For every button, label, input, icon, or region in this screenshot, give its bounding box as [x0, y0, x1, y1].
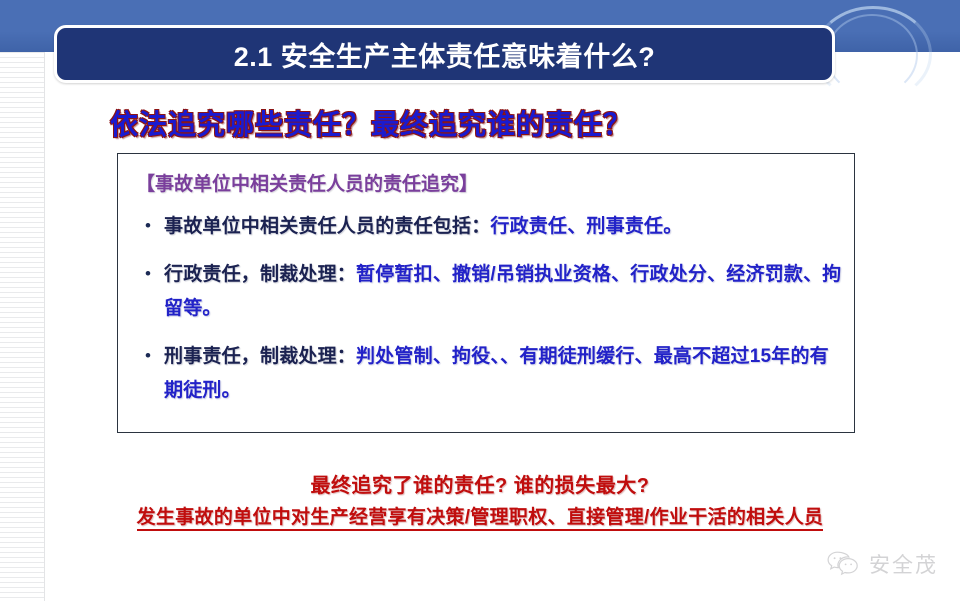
bullet-segment-label: 事故单位中相关责任人员的责任包括：	[164, 216, 490, 237]
bullet-list: •事故单位中相关责任人员的责任包括：行政责任、刑事责任。•行政责任，制裁处理：暂…	[132, 210, 844, 422]
bullet-marker-icon: •	[132, 210, 164, 242]
footer-question-line: 最终追究了谁的责任? 谁的损失最大?	[0, 469, 960, 498]
title-banner: 2.1 安全生产主体责任意味着什么?	[54, 25, 835, 83]
bullet-text: 刑事责任，制裁处理：判处管制、拘役、、有期徒刑缓行、最高不超过15年的有期徒刑。	[164, 340, 844, 408]
subtitle-question: 依法追究哪些责任？最终追究谁的责任？	[110, 103, 810, 143]
bullet-segment-label: 刑事责任，制裁处理：	[164, 346, 356, 367]
bullet-item: •事故单位中相关责任人员的责任包括：行政责任、刑事责任。	[132, 210, 844, 244]
content-box: 【事故单位中相关责任人员的责任追究】 •事故单位中相关责任人员的责任包括：行政责…	[117, 153, 855, 433]
bullet-item: •刑事责任，制裁处理：判处管制、拘役、、有期徒刑缓行、最高不超过15年的有期徒刑…	[132, 340, 844, 408]
wechat-bubbles-icon	[826, 550, 860, 578]
page-title: 2.1 安全生产主体责任意味着什么?	[234, 35, 656, 74]
bullet-marker-icon: •	[132, 258, 164, 290]
slide-canvas: 2.1 安全生产主体责任意味着什么? 依法追究哪些责任？最终追究谁的责任？ 【事…	[0, 0, 960, 601]
arc-decoration-inner-icon	[826, 14, 918, 96]
bullet-text: 事故单位中相关责任人员的责任包括：行政责任、刑事责任。	[164, 210, 844, 244]
footer-answer-text: 发生事故的单位中对生产经营享有决策/管理职权、直接管理/作业干活的相关人员	[137, 507, 824, 531]
watermark-label: 安全茂	[869, 549, 938, 579]
watermark: 安全茂	[826, 549, 938, 579]
content-box-header: 【事故单位中相关责任人员的责任追究】	[136, 169, 478, 196]
bullet-text: 行政责任，制裁处理：暂停暂扣、撤销/吊销执业资格、行政处分、经济罚款、拘留等。	[164, 258, 844, 326]
bullet-segment-label: 行政责任，制裁处理：	[164, 264, 356, 285]
footer-answer-line: 发生事故的单位中对生产经营享有决策/管理职权、直接管理/作业干活的相关人员	[0, 502, 960, 529]
bullet-item: •行政责任，制裁处理：暂停暂扣、撤销/吊销执业资格、行政处分、经济罚款、拘留等。	[132, 258, 844, 326]
bullet-marker-icon: •	[132, 340, 164, 372]
bullet-segment-emphasis: 行政责任、刑事责任。	[490, 216, 682, 237]
